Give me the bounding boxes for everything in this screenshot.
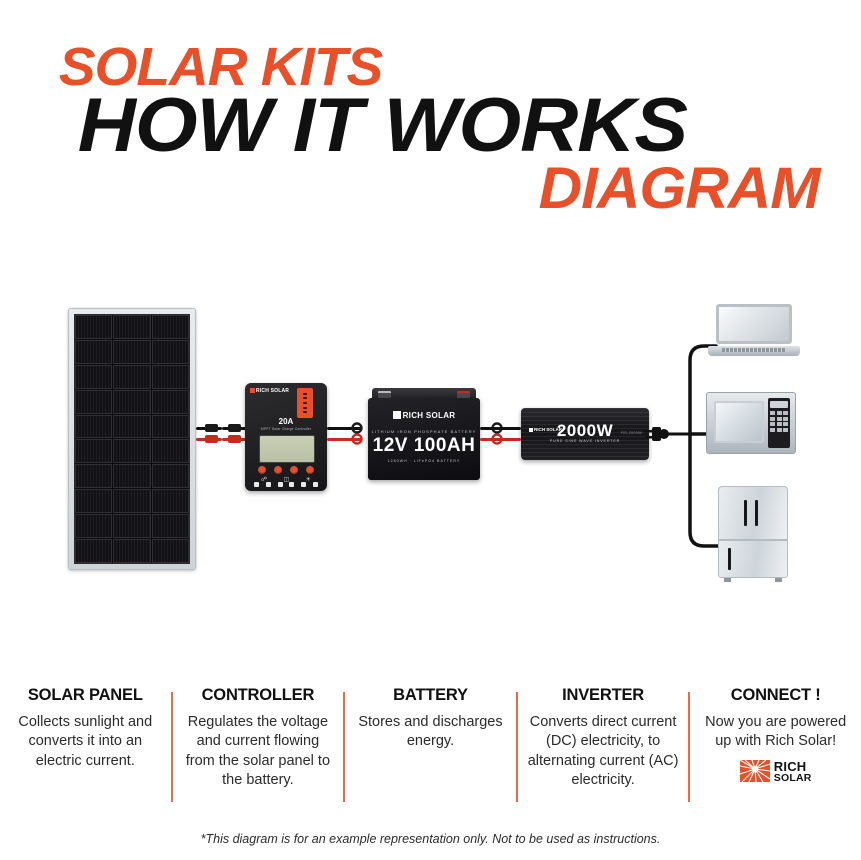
microwave-keypad — [770, 411, 788, 432]
caption-body: Stores and discharges energy. — [353, 713, 508, 752]
solar-cell — [113, 340, 150, 364]
solar-cell — [152, 439, 189, 463]
rich-solar-logo: RICH SOLAR — [740, 760, 812, 784]
solar-cell — [152, 415, 189, 439]
solar-cell — [152, 489, 189, 513]
solar-cell — [113, 439, 150, 463]
refrigerator-foot-right — [775, 578, 782, 582]
caption-row: SOLAR PANEL Collects sunlight and conver… — [0, 686, 861, 816]
mc4-connector-positive-a — [205, 435, 218, 443]
solar-cell — [75, 340, 112, 364]
microwave-graphic — [706, 392, 796, 454]
battery-footer-label: 1280WH · LiFePO4 BATTERY — [368, 459, 480, 463]
controller-button-1[interactable] — [258, 466, 266, 474]
caption-solar-panel: SOLAR PANEL Collects sunlight and conver… — [0, 686, 171, 771]
rich-solar-wordmark: RICH SOLAR — [774, 760, 812, 784]
solar-cell — [113, 539, 150, 563]
refrigerator-upper-door — [718, 486, 788, 540]
inverter-subtitle-label: PURE SINE WAVE INVERTER — [521, 439, 649, 443]
refrigerator-handle-right — [755, 500, 758, 526]
battery-terminal-negative — [378, 391, 391, 398]
solar-cell — [75, 439, 112, 463]
battery-logo-square — [393, 411, 401, 419]
battery-wire-negative — [327, 427, 361, 430]
caption-connect: CONNECT ! Now you are powered up with Ri… — [690, 686, 861, 787]
controller-button-row[interactable] — [258, 466, 314, 474]
inverter-wire-positive — [480, 438, 521, 441]
solar-cell — [75, 415, 112, 439]
solar-cell — [113, 365, 150, 389]
battery-terminal-positive — [457, 391, 470, 398]
caption-body: Regulates the voltage and current flowin… — [181, 713, 336, 790]
solar-cell — [75, 390, 112, 414]
battery-chemistry-label: LITHIUM IRON PHOSPHATE BATTERY — [368, 429, 480, 434]
solar-cell — [113, 390, 150, 414]
controller-logo-square — [250, 388, 255, 393]
solar-cell — [152, 340, 189, 364]
controller-vent-strip — [297, 388, 313, 418]
mc4-connector-negative-a — [205, 424, 218, 432]
logo-line-solar: SOLAR — [774, 773, 812, 784]
caption-body: Now you are powered up with Rich Solar! — [698, 713, 853, 752]
solar-panel-cell-grid — [74, 314, 190, 564]
solar-cell — [152, 539, 189, 563]
title-line-how-it-works: HOW IT WORKS — [78, 88, 687, 164]
solar-cell — [152, 464, 189, 488]
footnote-text: *This diagram is for an example represen… — [0, 832, 861, 846]
caption-heading: BATTERY — [353, 686, 508, 705]
controller-subtitle-label: MPPT Solar Charge Controller — [245, 427, 327, 431]
microwave-control-panel — [768, 398, 790, 448]
battery-wire-positive — [327, 438, 361, 441]
solar-cell — [75, 514, 112, 538]
title-block: SOLAR KITS HOW IT WORKS DIAGRAM — [0, 0, 861, 230]
logo-line-rich: RICH — [774, 760, 812, 773]
caption-heading: CONTROLLER — [181, 686, 336, 705]
sunburst-icon — [740, 760, 770, 782]
solar-cell — [113, 514, 150, 538]
controller-amperage-label: 20A — [245, 417, 327, 426]
refrigerator-graphic — [718, 486, 788, 580]
mc4-connector-negative-b — [228, 424, 241, 432]
inverter-wire-negative — [480, 427, 521, 430]
infographic-canvas: SOLAR KITS HOW IT WORKS DIAGRAM RICH SOL… — [0, 0, 861, 860]
caption-controller: CONTROLLER Regulates the voltage and cur… — [173, 686, 344, 790]
controller-button-4[interactable] — [306, 466, 314, 474]
battery-graphic: RICH SOLAR LITHIUM IRON PHOSPHATE BATTER… — [368, 388, 480, 480]
microwave-door — [714, 401, 764, 443]
diagram-area: RICH SOLAR 20A MPPT Solar Charge Control… — [0, 250, 861, 670]
solar-cell — [75, 489, 112, 513]
solar-cell — [75, 539, 112, 563]
microwave-display — [770, 401, 788, 408]
solar-cell — [152, 390, 189, 414]
solar-cell — [113, 464, 150, 488]
solar-cell — [152, 514, 189, 538]
solar-panel-graphic — [68, 308, 196, 570]
caption-battery: BATTERY Stores and discharges energy. — [345, 686, 516, 752]
refrigerator-handle-left — [744, 500, 747, 526]
solar-cell — [113, 415, 150, 439]
caption-heading: INVERTER — [526, 686, 681, 705]
charge-controller-graphic: RICH SOLAR 20A MPPT Solar Charge Control… — [245, 383, 327, 491]
controller-terminal-row — [254, 482, 318, 487]
controller-button-3[interactable] — [290, 466, 298, 474]
inverter-model-label: RS-2000W — [621, 431, 642, 435]
caption-heading: CONNECT ! — [698, 686, 853, 705]
refrigerator-foot-left — [724, 578, 731, 582]
controller-lcd-screen — [259, 435, 315, 463]
laptop-graphic — [708, 304, 800, 356]
laptop-keyboard — [722, 348, 786, 352]
solar-cell — [75, 315, 112, 339]
inverter-graphic: RICH SOLAR 2000W PURE SINE WAVE INVERTER… — [521, 408, 649, 460]
solar-cell — [75, 464, 112, 488]
title-line-diagram: DIAGRAM — [539, 160, 820, 218]
solar-cell — [113, 489, 150, 513]
battery-spec-label: 12V 100AH — [368, 435, 480, 457]
refrigerator-handle-freezer — [728, 548, 731, 570]
caption-body: Collects sunlight and converts it into a… — [8, 713, 163, 771]
solar-cell — [75, 365, 112, 389]
mc4-connector-positive-b — [228, 435, 241, 443]
battery-body: RICH SOLAR LITHIUM IRON PHOSPHATE BATTER… — [368, 398, 480, 480]
caption-body: Converts direct current (DC) electricity… — [526, 713, 681, 790]
battery-brand-label: RICH SOLAR — [368, 411, 480, 420]
controller-button-2[interactable] — [274, 466, 282, 474]
caption-inverter: INVERTER Converts direct current (DC) el… — [518, 686, 689, 790]
laptop-screen — [716, 304, 792, 344]
solar-cell — [152, 365, 189, 389]
caption-heading: SOLAR PANEL — [8, 686, 163, 705]
solar-cell — [113, 315, 150, 339]
solar-cell — [152, 315, 189, 339]
